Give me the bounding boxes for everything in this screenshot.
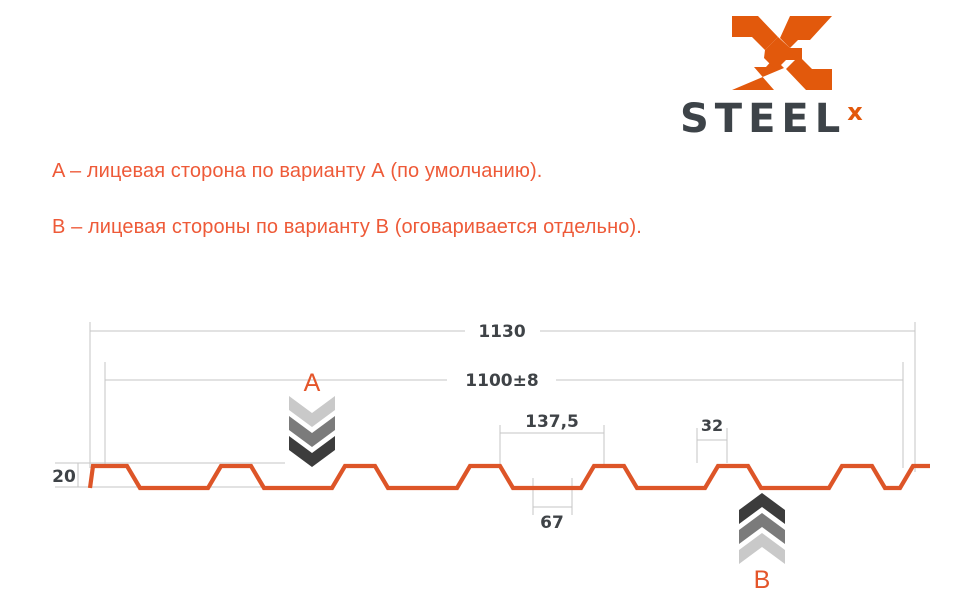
dimension-overall-width: 1130 xyxy=(90,322,915,342)
dimension-useful-width-label: 1100±8 xyxy=(465,371,538,391)
dimension-rib-top-width: 32 xyxy=(697,416,727,463)
brand-logo: STEELx xyxy=(680,14,910,149)
side-a-marker-label: A xyxy=(304,369,321,397)
side-a-marker: A xyxy=(289,369,335,467)
side-b-marker-label: B xyxy=(754,566,771,594)
dimension-rib-top-width-label: 32 xyxy=(701,416,723,435)
dimension-valley-width-label: 67 xyxy=(540,513,564,533)
dimension-overall-width-label: 1130 xyxy=(478,322,525,342)
dimension-useful-width: 1100±8 xyxy=(105,371,903,391)
steelx-x-mark-icon xyxy=(732,14,832,92)
dimension-rib-pitch-label: 137,5 xyxy=(525,412,579,432)
profile-cross-section-path xyxy=(90,466,930,488)
dimension-rib-pitch: 137,5 xyxy=(500,412,604,465)
brand-wordmark-text: STEEL xyxy=(680,96,846,142)
brand-wordmark: STEELx xyxy=(680,96,910,142)
note-side-b: B – лицевая стороны по варианту B (огова… xyxy=(52,216,642,239)
page-root: STEELx A – лицевая сторона по варианту А… xyxy=(0,0,970,597)
brand-wordmark-superscript: x xyxy=(847,98,862,126)
dimension-profile-height-label: 20 xyxy=(52,467,76,487)
note-side-a: A – лицевая сторона по варианту А (по ум… xyxy=(52,160,542,183)
profile-technical-drawing: 1130 1100±8 137,5 67 xyxy=(0,300,970,597)
side-b-marker: B xyxy=(739,493,785,594)
